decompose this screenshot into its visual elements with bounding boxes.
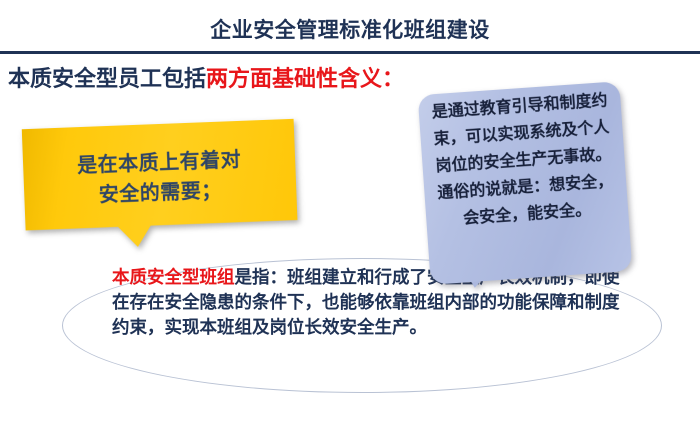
- presentation-slide: 企业安全管理标准化班组建设 本质安全型员工包括两方面基础性含义： 本质安全型班组…: [0, 0, 700, 437]
- definition-body-line-1: 是指：班组建立和行成了安全: [235, 267, 463, 287]
- definition-text: 本质安全型班组是指：班组建立和行成了安全生产长效机制，即使在存在安全隐患的条件下…: [112, 265, 632, 340]
- definition-body-line-4: ，实现本班组及岗位长效安全生产。: [147, 317, 427, 337]
- yellow-callout-text: 是在本质上有着对 安全的需要；: [22, 125, 297, 230]
- slide-title: 企业安全管理标准化班组建设: [0, 14, 700, 44]
- heading-suffix: ：: [382, 66, 404, 91]
- blue-callout: 是通过教育引导和制度约 束，可以实现系统及个人 岗位的安全生产无事故。 通俗的说…: [418, 81, 633, 285]
- heading-prefix: 本质安全型员工包括: [8, 66, 206, 91]
- yellow-callout: 是在本质上有着对 安全的需要；: [22, 119, 298, 251]
- heading-highlight: 两方面基础性含义: [206, 66, 382, 91]
- title-divider: [0, 51, 700, 54]
- definition-term: 本质安全型班组: [112, 267, 235, 287]
- yellow-callout-line-2: 安全的需要；: [98, 175, 222, 210]
- heading-line: 本质安全型员工包括两方面基础性含义：: [8, 61, 404, 93]
- blue-callout-text: 是通过教育引导和制度约 束，可以实现系统及个人 岗位的安全生产无事故。 通俗的说…: [422, 86, 628, 277]
